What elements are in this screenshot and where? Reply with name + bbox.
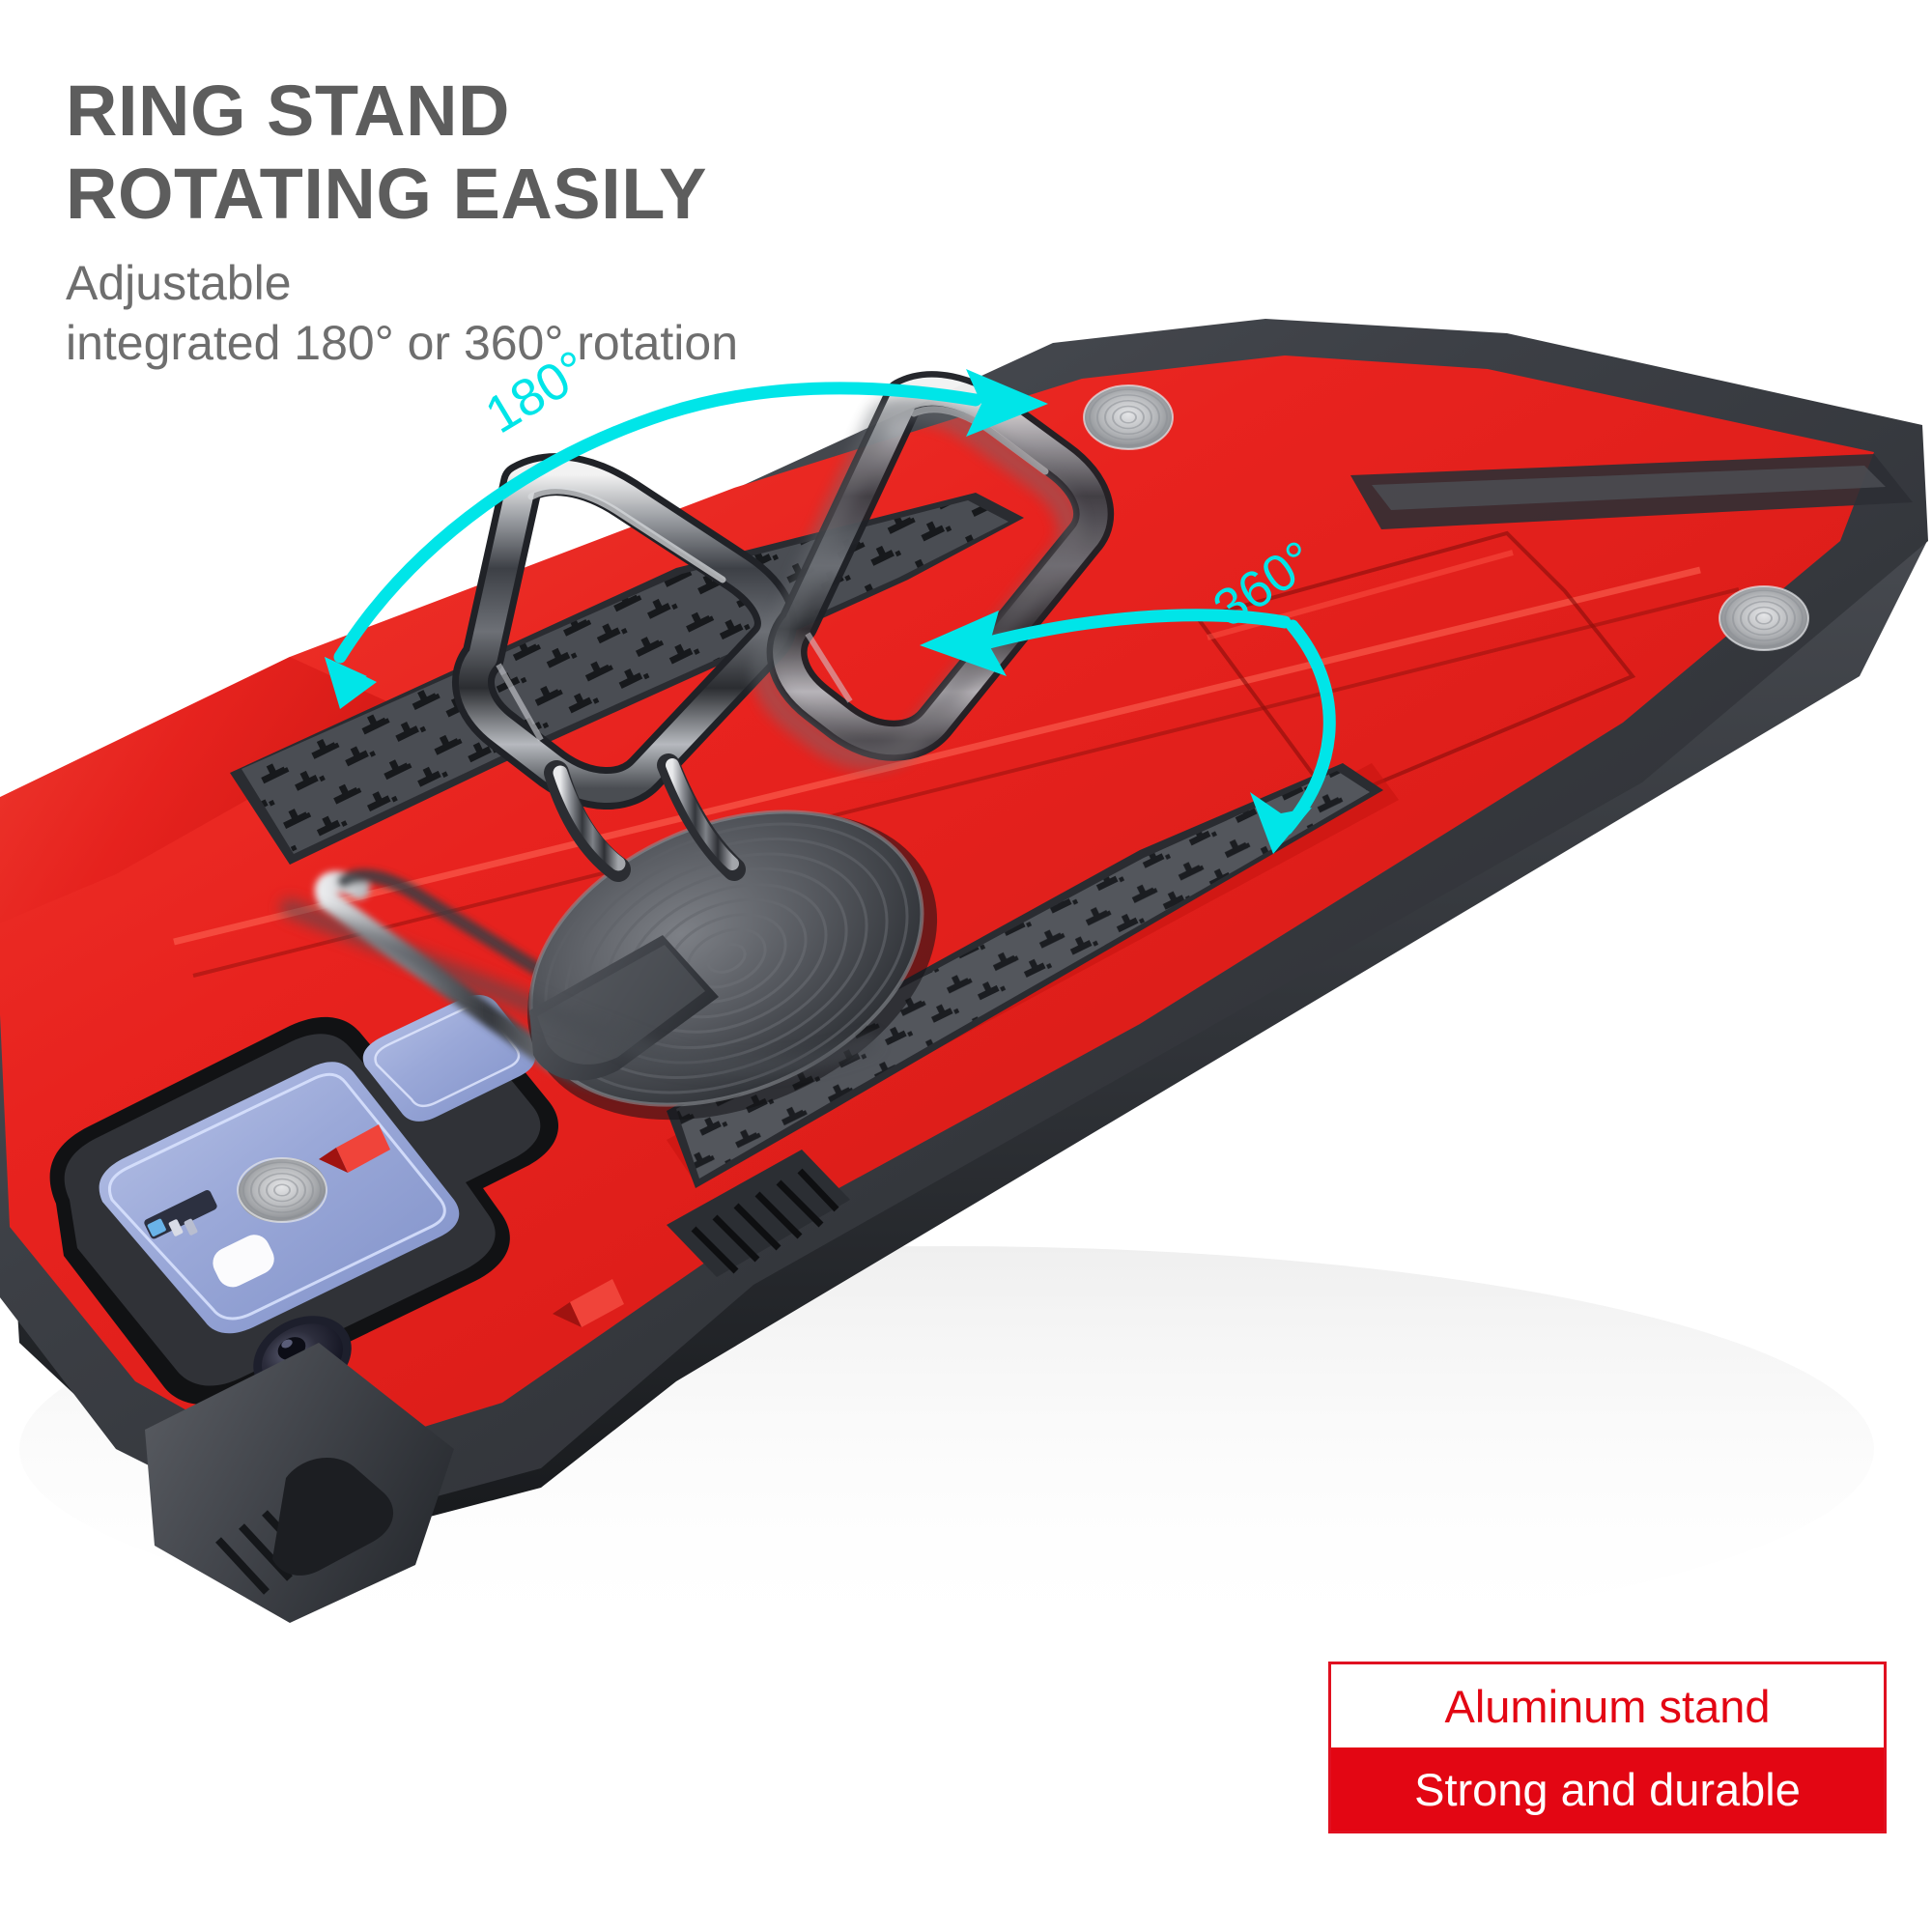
feature-badge: Aluminum stand Strong and durable [1328, 1662, 1887, 1833]
headline-line-1: RING STAND [66, 70, 1128, 153]
metallic-accent-circle-right [1719, 586, 1808, 650]
feature-badge-top-row: Aluminum stand [1331, 1664, 1884, 1747]
product-image-canvas: RING STAND ROTATING EASILY Adjustable in… [0, 0, 1932, 1932]
headline-line-2: ROTATING EASILY [66, 153, 1128, 236]
feature-badge-bottom-text: Strong and durable [1414, 1763, 1801, 1816]
headline-block: RING STAND ROTATING EASILY Adjustable in… [66, 70, 1128, 373]
subheading-block: Adjustable integrated 180° or 360° rotat… [66, 253, 1128, 373]
subheading-line-1: Adjustable [66, 253, 1128, 313]
feature-badge-top-text: Aluminum stand [1445, 1680, 1771, 1733]
metallic-accent-circle-top [1084, 385, 1173, 449]
feature-badge-bottom-row: Strong and durable [1331, 1747, 1884, 1831]
subheading-line-2: integrated 180° or 360° rotation [66, 313, 1128, 373]
